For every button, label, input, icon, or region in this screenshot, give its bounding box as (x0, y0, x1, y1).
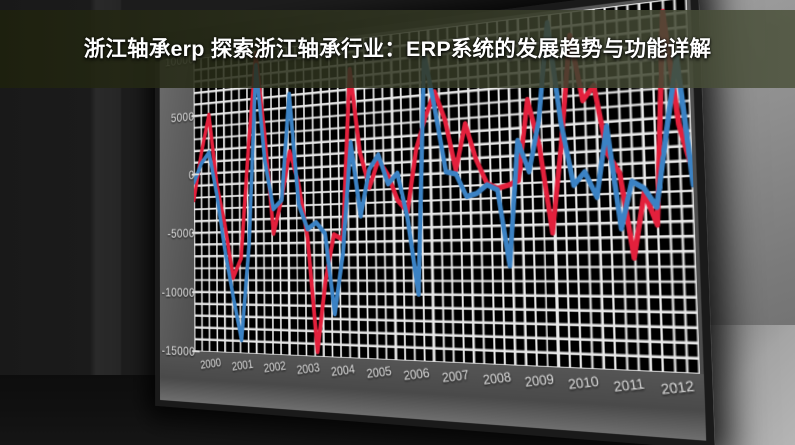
x-axis-tick-label: 2001 (231, 357, 254, 373)
y-axis-tick-mark (192, 350, 199, 352)
title-banner: 浙江轴承erp 探索浙江轴承行业：ERP系统的发展趋势与功能详解 (0, 10, 795, 88)
x-axis-tick-label: 2003 (296, 360, 321, 377)
y-axis-tick-label: 0 (154, 167, 195, 183)
x-axis-tick-label: 2002 (263, 359, 287, 375)
page-title: 浙江轴承erp 探索浙江轴承行业：ERP系统的发展趋势与功能详解 (28, 35, 768, 63)
y-axis-tick-label: -10000 (154, 284, 195, 299)
x-axis-tick-label: 2004 (330, 362, 356, 379)
y-axis-tick-label: -5000 (154, 226, 195, 241)
screenshot-root: 1000050000-5000-10000-15000 200020012002… (0, 0, 795, 445)
y-axis-tick-mark (192, 291, 199, 293)
y-axis-tick-mark (192, 232, 199, 234)
y-axis-tick-label: -15000 (154, 342, 195, 358)
